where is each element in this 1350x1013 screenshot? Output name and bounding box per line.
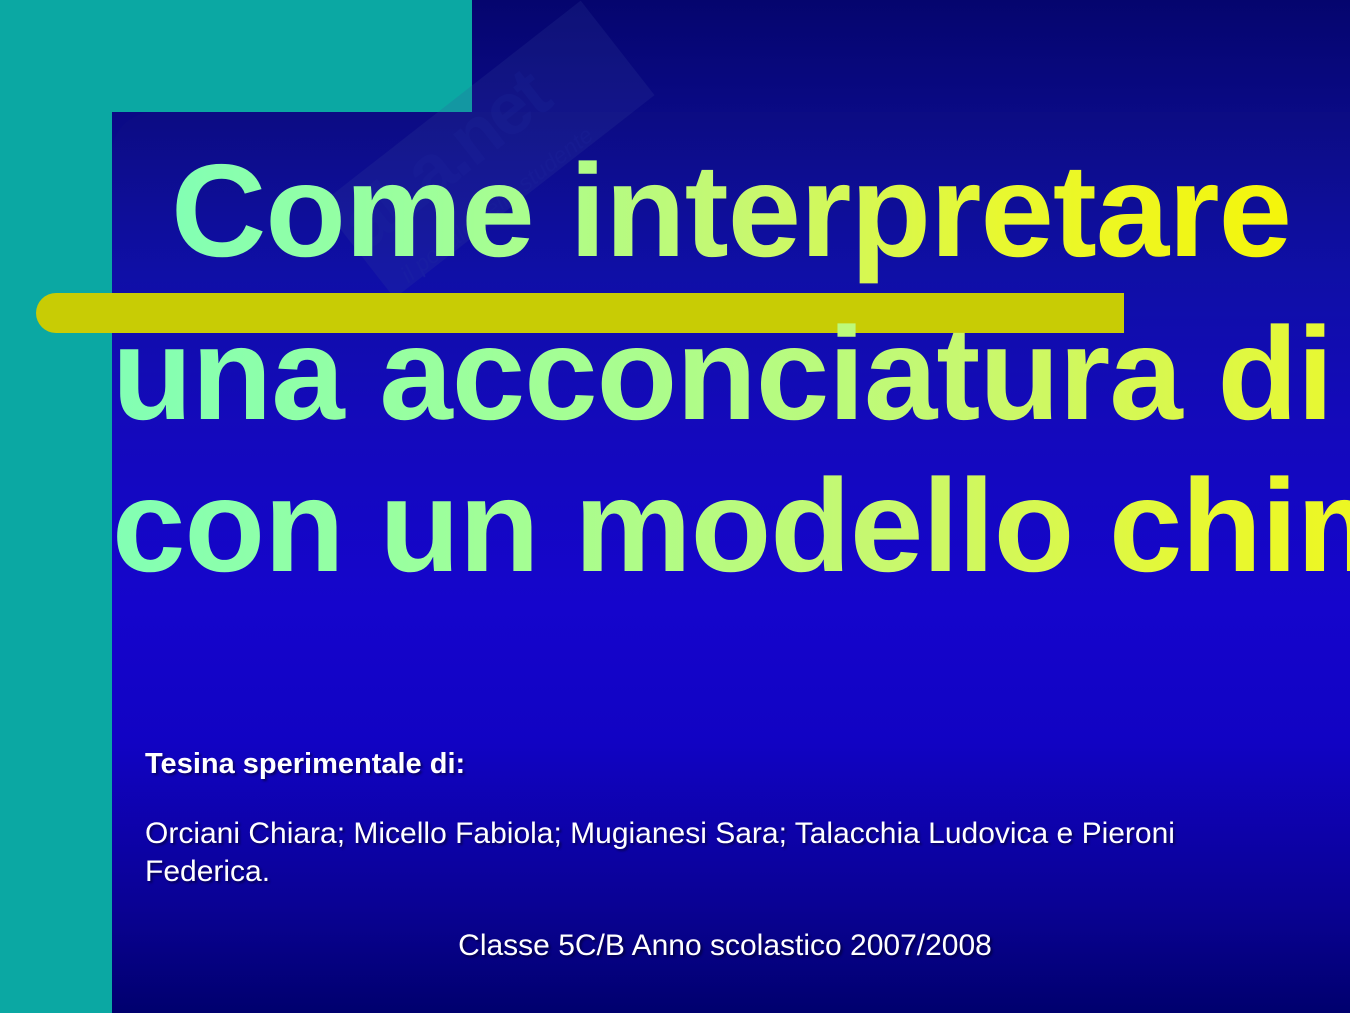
author-heading-label: Tesina sperimentale di: — [145, 748, 1235, 781]
teal-top-block-decoration — [0, 0, 472, 112]
class-and-year-text: Classe 5C/B Anno scolastico 2007/2008 — [145, 929, 1235, 963]
teal-left-strip-decoration — [0, 0, 112, 1013]
slide-subtitle-block: Tesina sperimentale di: Orciani Chiara; … — [145, 748, 1235, 963]
presentation-slide: aLa.net il portale dello studente Come i… — [0, 0, 1350, 1013]
accent-bar-decoration — [36, 293, 1124, 333]
author-names-text: Orciani Chiara; Micello Fabiola; Mugiane… — [145, 815, 1235, 891]
